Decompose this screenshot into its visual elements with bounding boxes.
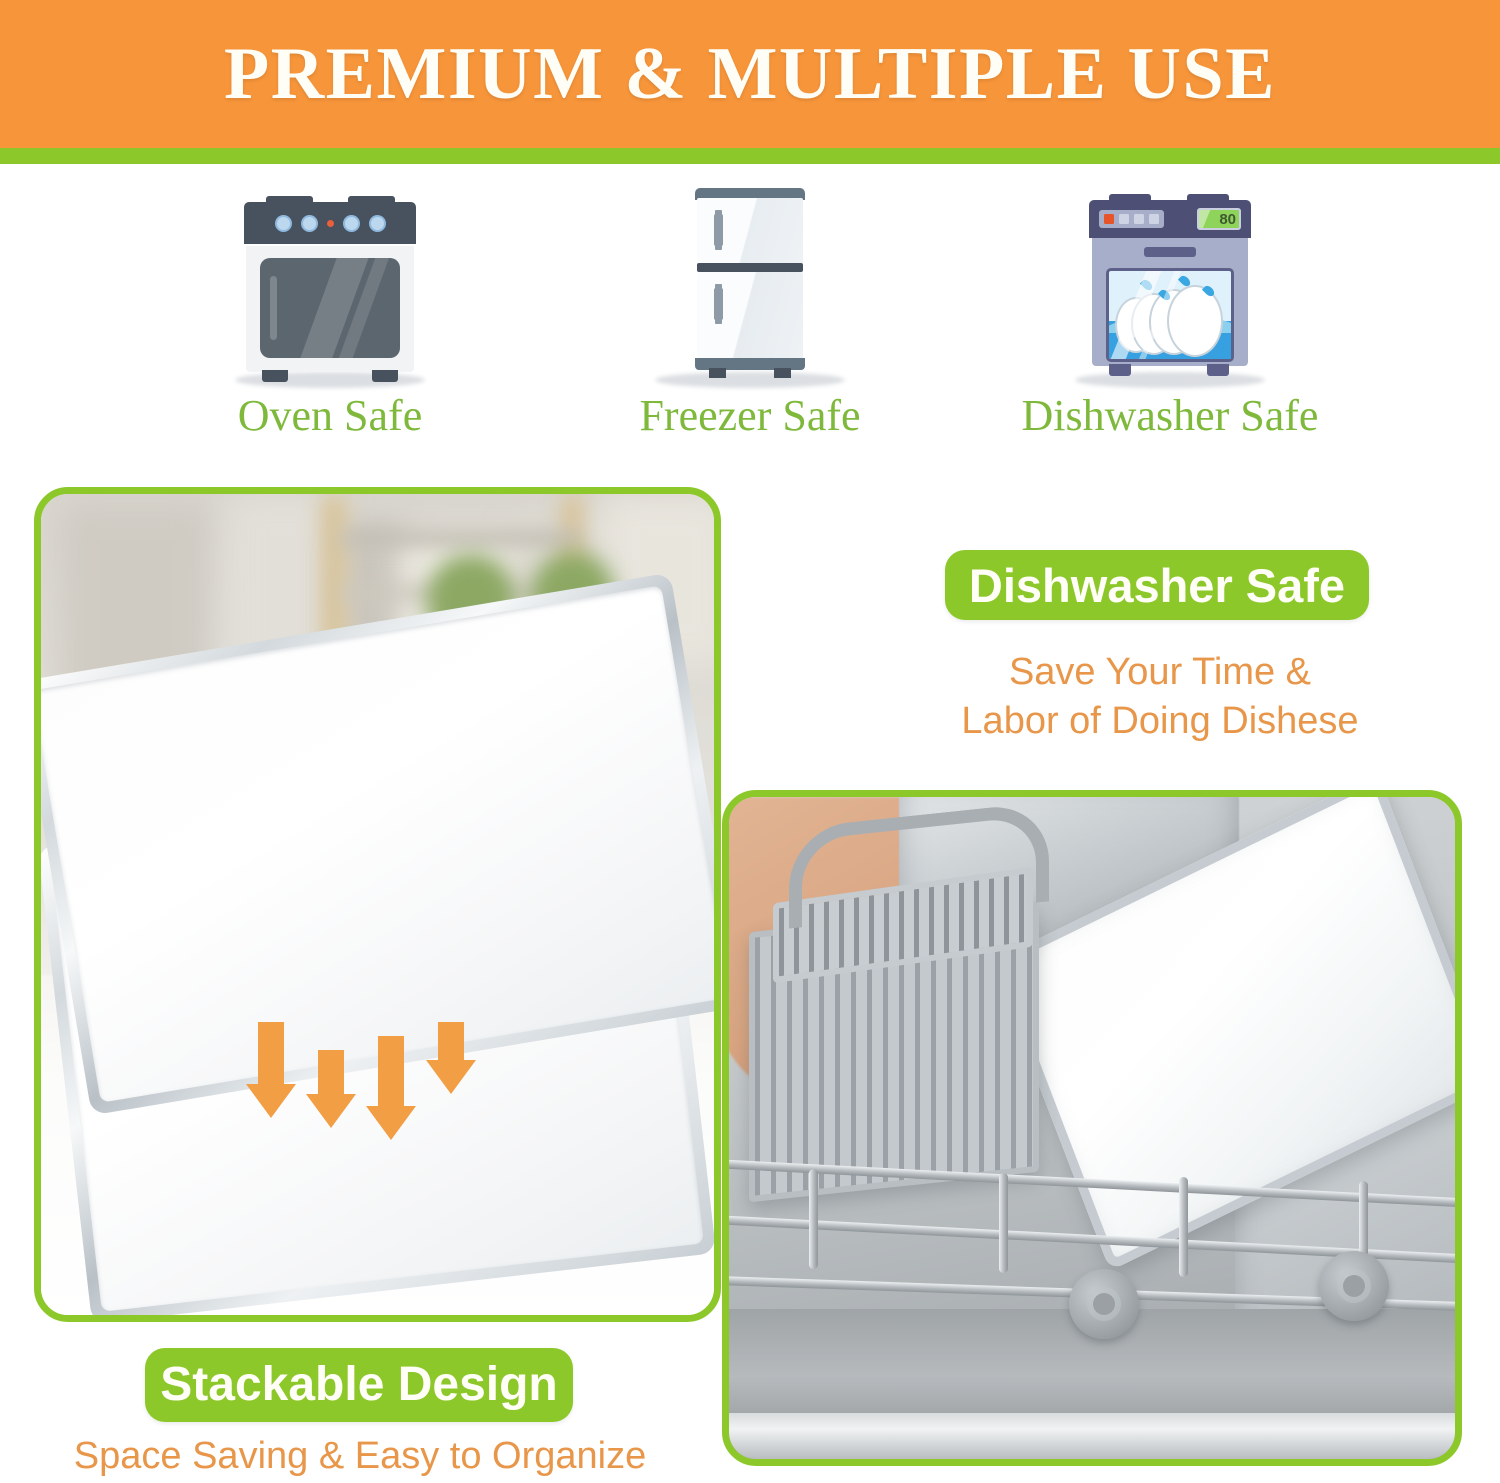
page-title: PREMIUM & MULTIPLE USE [224,37,1276,111]
oven-door-window [260,258,400,358]
oven-control-panel [244,202,416,244]
dishwasher-power-button [1104,214,1114,224]
dishwasher-shadow [1075,372,1265,388]
dishwasher-door-window [1106,268,1234,362]
feature-dishwasher-safe: 80 [960,172,1380,438]
refrigerator-icon-art [695,172,805,384]
rack-post-2 [999,1173,1008,1273]
refrigerator-handle-upper [714,214,723,246]
stackable-design-subtitle: Space Saving & Easy to Organize [40,1432,680,1481]
oven-door-handle [270,276,277,340]
dishwasher-leg-left [1109,364,1131,376]
dishwasher-safe-subtitle: Save Your Time & Labor of Doing Dishese [900,648,1420,745]
feature-oven-safe: Oven Safe [120,172,540,438]
dishwasher-control-panel: 80 [1089,200,1251,238]
refrigerator-leg-right [774,368,791,378]
oven-knob-4 [369,215,386,232]
refrigerator-freezer-door [697,198,803,264]
refrigerator-leg-left [709,368,726,378]
down-arrow-icon-2 [306,1050,356,1128]
dishwasher-lower-rack [729,1139,1455,1379]
rack-post-3 [1179,1177,1188,1277]
oven-icon [244,196,416,384]
dishwasher-button-1 [1119,214,1129,224]
dishwasher-door-edge [729,1413,1455,1459]
dishwasher-plate-4 [1167,285,1223,357]
dishwasher-safe-pill-label: Dishwasher Safe [969,562,1345,609]
oven-knob-2 [301,215,318,232]
oven-icon-art [244,172,416,384]
down-arrow-icon-1 [246,1022,296,1118]
dishwasher-interior-scene [729,797,1455,1459]
stacking-arrows [246,1022,476,1140]
stackable-design-pill: Stackable Design [145,1348,573,1422]
rack-wheel-left [1069,1269,1139,1339]
feature-icon-row: Oven Safe Freezer Safe [0,172,1500,472]
rack-wheel-right [1319,1251,1389,1321]
stackable-design-pill-label: Stackable Design [160,1361,558,1409]
feature-label-oven: Oven Safe [238,394,423,438]
feature-label-freezer: Freezer Safe [639,394,860,438]
stacked-baking-sheets-photo [34,487,721,1322]
feature-freezer-safe: Freezer Safe [540,172,960,438]
dishwasher-display: 80 [1197,208,1241,230]
refrigerator-fridge-door [697,272,803,360]
dishwasher-button-group [1099,210,1164,228]
oven-leg-left [262,370,288,382]
oven-leg-right [372,370,398,382]
dishwasher-button-2 [1134,214,1144,224]
dishwasher-door-handle [1144,247,1196,257]
refrigerator-icon [695,188,805,384]
down-arrow-icon-4 [426,1022,476,1094]
rack-bar-1 [729,1158,1455,1208]
dishwasher-display-glare [1197,208,1212,230]
dishwasher-icon-art: 80 [1089,172,1251,384]
dishwasher-icon: 80 [1089,194,1251,384]
dishwasher-display-value: 80 [1219,212,1236,227]
dishwasher-rack-photo [722,790,1462,1466]
background-shelf-1 [341,530,581,546]
rack-post-1 [809,1169,818,1269]
refrigerator-door-divider [697,263,803,272]
oven-knob-3 [343,215,360,232]
oven-knob-1 [275,215,292,232]
refrigerator-handle-lower [714,288,723,320]
feature-label-dishwasher: Dishwasher Safe [1022,394,1319,438]
header-banner: PREMIUM & MULTIPLE USE [0,0,1500,148]
down-arrow-icon-3 [366,1036,416,1140]
dishwasher-button-3 [1149,214,1159,224]
refrigerator-shadow [655,372,845,388]
dishwasher-safe-pill: Dishwasher Safe [945,550,1369,620]
dishwasher-leg-right [1207,364,1229,376]
header-divider-rule [0,148,1500,164]
oven-indicator-light [327,220,334,227]
